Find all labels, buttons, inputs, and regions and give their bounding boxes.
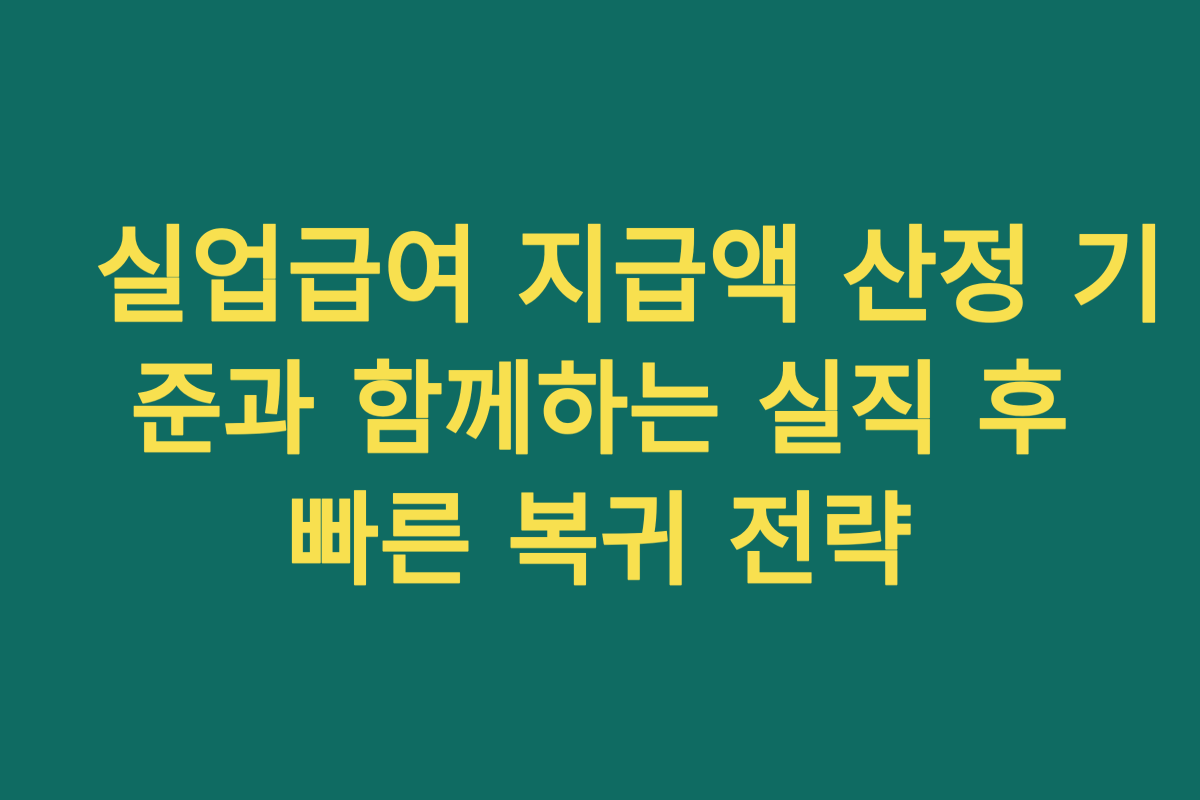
thumbnail-canvas: 실업급여 지급액 산정 기 준과 함께하는 실직 후 빠른 복귀 전략 — [0, 0, 1200, 800]
headline-line-2: 준과 함께하는 실직 후 — [95, 344, 1105, 475]
headline-line-1: 실업급여 지급액 산정 기 — [95, 208, 1105, 344]
headline-block: 실업급여 지급액 산정 기 준과 함께하는 실직 후 빠른 복귀 전략 — [95, 208, 1105, 606]
headline-line-3: 빠른 복귀 전략 — [95, 475, 1105, 606]
